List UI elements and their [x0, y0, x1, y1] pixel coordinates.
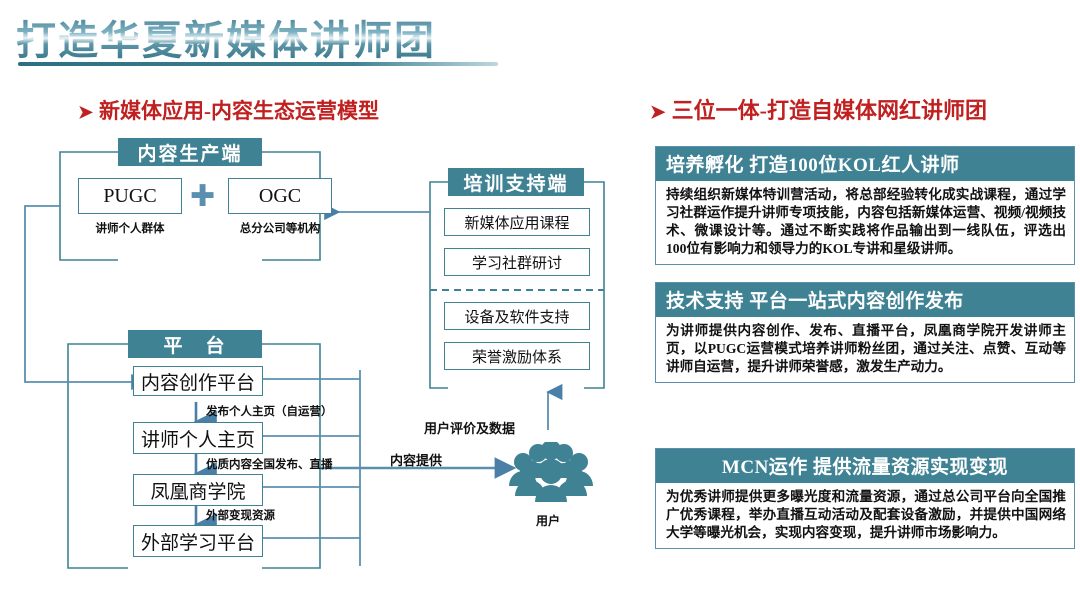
platform-step-label-2: 外部变现资源: [206, 507, 275, 523]
plus-icon: ✚: [190, 182, 215, 212]
arrow-bullet-icon: ➤: [78, 102, 93, 122]
platform-item-2[interactable]: 凤凰商学院: [133, 474, 263, 506]
platform-item-3[interactable]: 外部学习平台: [133, 525, 263, 557]
left-section-heading-label: 新媒体应用-内容生态运营模型: [99, 99, 379, 123]
feature-card-title: MCN运作 提供流量资源实现变现: [656, 449, 1074, 483]
flow-label-supply: 内容提供: [390, 450, 442, 469]
platform-step-label-1: 优质内容全国发布、直播: [206, 456, 333, 472]
right-section-heading-label: 三位一体-打造自媒体网红讲师团: [672, 98, 987, 123]
training-item-0[interactable]: 新媒体应用课程: [444, 208, 590, 236]
platform-step-label-0: 发布个人主页（自运营）: [206, 403, 333, 419]
caption-ogc: 总分公司等机构: [228, 220, 332, 236]
group-title-production: 内容生产端: [118, 138, 262, 166]
feature-card-body: 为优秀讲师提供更多曝光度和流量资源，通过总公司平台向全国推广优秀课程，举办直播互…: [656, 483, 1074, 548]
box-pugc[interactable]: PUGC: [78, 178, 182, 214]
feature-card-body: 为讲师提供内容创作、发布、直播平台，凤凰商学院开发讲师主页，以PUGC运营模式培…: [656, 317, 1074, 382]
training-item-2[interactable]: 设备及软件支持: [444, 302, 590, 330]
training-item-3[interactable]: 荣誉激励体系: [444, 342, 590, 370]
right-section-heading: ➤三位一体-打造自媒体网红讲师团: [650, 93, 987, 125]
platform-item-1[interactable]: 讲师个人主页: [133, 422, 263, 454]
group-title-training: 培训支持端: [448, 168, 584, 196]
training-item-1[interactable]: 学习社群研讨: [444, 248, 590, 276]
users-label: 用户: [536, 512, 560, 529]
feature-card-mcn: MCN运作 提供流量资源实现变现 为优秀讲师提供更多曝光度和流量资源，通过总公司…: [655, 448, 1075, 549]
group-title-platform: 平 台: [128, 330, 262, 358]
box-ogc[interactable]: OGC: [228, 178, 332, 214]
left-section-heading: ➤新媒体应用-内容生态运营模型: [78, 95, 379, 125]
feature-card-body: 持续组织新媒体特训营活动，将总部经验转化成实战课程，通过学习社群运作提升讲师专项…: [656, 181, 1074, 264]
platform-item-0[interactable]: 内容创作平台: [133, 366, 263, 396]
feature-card-title: 技术支持 平台一站式内容创作发布: [656, 283, 1074, 317]
feature-card-title: 培养孵化 打造100位KOL红人讲师: [656, 147, 1074, 181]
users-group-icon: [505, 442, 597, 504]
caption-pugc: 讲师个人群体: [78, 220, 182, 236]
title-underline: [18, 62, 498, 66]
ecosystem-diagram: 内容生产端 PUGC ✚ OGC 讲师个人群体 总分公司等机构 培训支持端 新媒…: [0, 130, 650, 597]
arrow-bullet-icon: ➤: [650, 102, 666, 123]
flow-label-feedback: 用户评价及数据: [424, 418, 515, 437]
feature-card-cultivation: 培养孵化 打造100位KOL红人讲师 持续组织新媒体特训营活动，将总部经验转化成…: [655, 146, 1075, 265]
page-title: 打造华夏新媒体讲师团: [16, 8, 436, 66]
feature-card-tech-support: 技术支持 平台一站式内容创作发布 为讲师提供内容创作、发布、直播平台，凤凰商学院…: [655, 282, 1075, 383]
